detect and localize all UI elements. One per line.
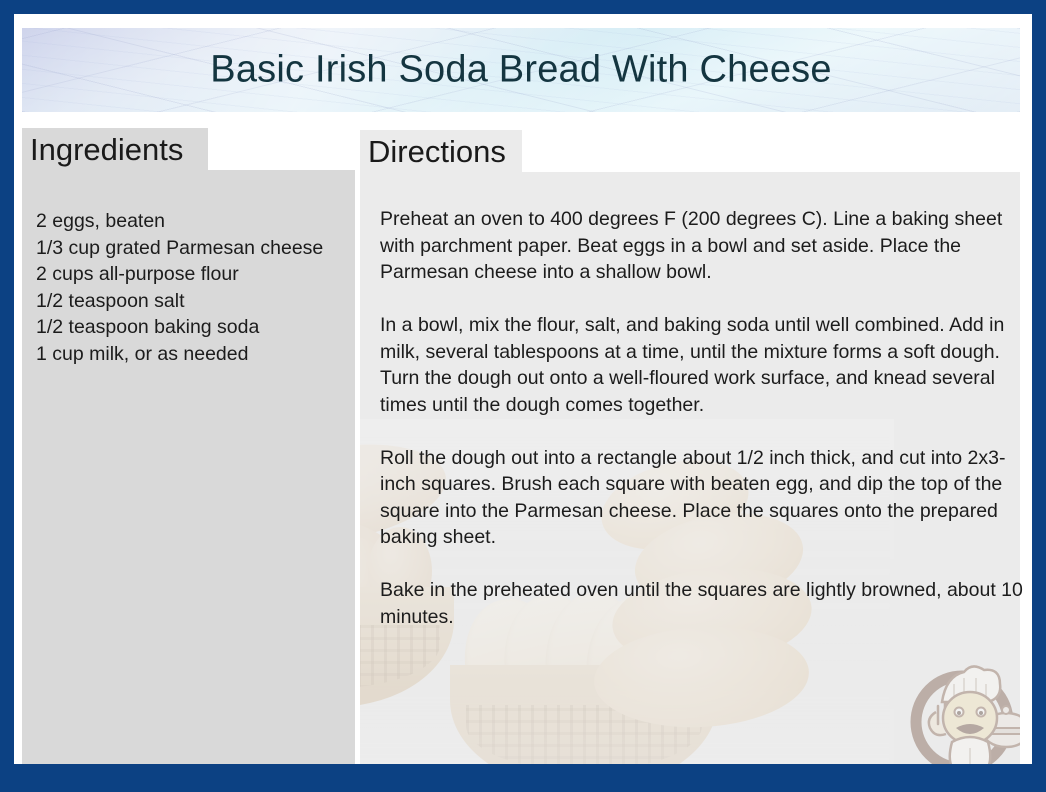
recipe-card-slide: Basic Irish Soda Bread With Cheese xyxy=(0,0,1046,792)
directions-paragraph: Preheat an oven to 400 degrees F (200 de… xyxy=(380,206,1032,286)
title-banner: Basic Irish Soda Bread With Cheese xyxy=(22,28,1020,112)
directions-paragraph: Bake in the preheated oven until the squ… xyxy=(380,577,1032,630)
chef-logo-icon xyxy=(902,648,1020,764)
challah-bottom xyxy=(592,621,812,732)
basket-right xyxy=(450,665,718,764)
directions-text: Preheat an oven to 400 degrees F (200 de… xyxy=(380,206,1032,630)
page-title: Basic Irish Soda Bread With Cheese xyxy=(22,49,1020,92)
directions-paragraph: In a bowl, mix the flour, salt, and baki… xyxy=(380,312,1032,418)
card-frame: Basic Irish Soda Bread With Cheese xyxy=(14,14,1032,764)
ingredients-heading: Ingredients xyxy=(22,128,208,174)
directions-heading: Directions xyxy=(360,130,522,176)
ingredients-list: 2 eggs, beaten 1/3 cup grated Parmesan c… xyxy=(36,208,356,367)
directions-paragraph: Roll the dough out into a rectangle abou… xyxy=(380,445,1032,551)
